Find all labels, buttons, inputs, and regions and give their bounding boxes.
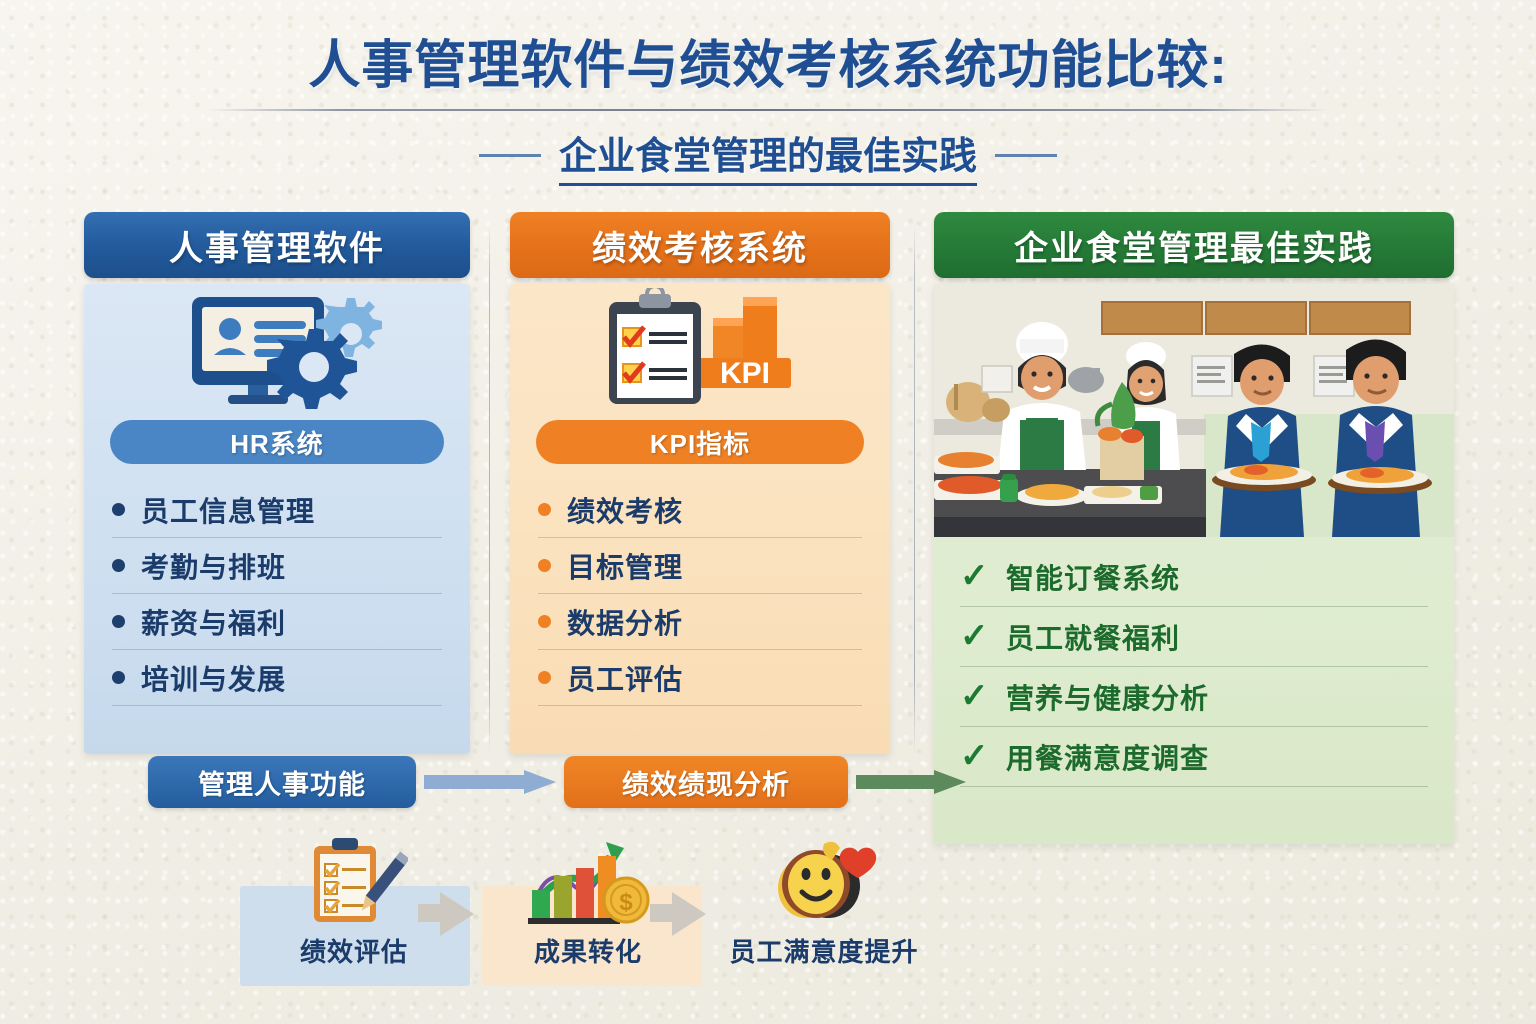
arrow-head <box>524 770 556 794</box>
list-item[interactable]: 考勤与排班 <box>112 538 442 594</box>
arrow-shaft <box>424 775 524 789</box>
step-arrow-1-icon <box>440 892 474 936</box>
list-item-label: 考勤与排班 <box>141 546 286 586</box>
flow-arrow-1-icon <box>424 770 556 794</box>
card-kpi-feature-list: 绩效考核 目标管理 数据分析 员工评估 <box>538 482 862 706</box>
list-item-label: 员工评估 <box>567 658 683 698</box>
card-divider-2 <box>914 224 915 754</box>
card-kpi-title: 绩效考核系统 <box>510 212 890 278</box>
card-divider-1 <box>489 224 490 754</box>
arrow-shaft <box>856 775 934 789</box>
card-hr-title: 人事管理软件 <box>84 212 470 278</box>
list-item-label: 数据分析 <box>567 602 683 642</box>
title-zone: 人事管理软件与绩效考核系统功能比较: 企业食堂管理的最佳实践 <box>0 36 1536 186</box>
subtitle-dash-left <box>479 154 541 157</box>
step-arrow-2-icon <box>672 892 706 936</box>
flow-step-hr[interactable]: 管理人事功能 <box>148 756 416 808</box>
card-hr-badge: HR系统 <box>110 420 444 464</box>
list-item[interactable]: 员工信息管理 <box>112 482 442 538</box>
card-kpi-body: KPI KPI指标 <box>510 284 890 754</box>
list-item-label: 绩效考核 <box>567 490 683 530</box>
bullet-dot-icon <box>112 671 125 684</box>
list-item[interactable]: 员工评估 <box>538 650 862 706</box>
monitor-user-gears-icon <box>84 284 470 414</box>
flow-arrow-2-icon <box>856 770 966 794</box>
list-item[interactable]: 薪资与福利 <box>112 594 442 650</box>
svg-text:$: $ <box>619 889 633 916</box>
bullet-dot-icon <box>538 671 551 684</box>
page-subtitle: 企业食堂管理的最佳实践 <box>559 125 977 186</box>
card-kpi-system[interactable]: 绩效考核系统 KPI <box>510 212 890 754</box>
list-item-label: 营养与健康分析 <box>1006 677 1209 717</box>
outcome-step-2-label: 成果转化 <box>488 932 688 969</box>
list-item-label: 智能订餐系统 <box>1006 557 1180 597</box>
bullet-dot-icon <box>112 615 125 628</box>
svg-text:KPI: KPI <box>720 357 770 390</box>
list-item[interactable]: 目标管理 <box>538 538 862 594</box>
page-title: 人事管理软件与绩效考核系统功能比较: <box>0 36 1536 97</box>
bullet-dot-icon <box>538 559 551 572</box>
card-hr-software[interactable]: 人事管理软件 <box>84 212 470 754</box>
outcome-steps-row: 绩效评估 $ 成果转化 <box>0 826 1536 1006</box>
list-item-label: 员工就餐福利 <box>1006 617 1180 657</box>
bullet-dot-icon <box>538 615 551 628</box>
list-item[interactable]: ✓ 智能订餐系统 <box>960 547 1428 607</box>
list-item[interactable]: 绩效考核 <box>538 482 862 538</box>
list-item-label: 培训与发展 <box>141 658 286 698</box>
process-flow-row: 管理人事功能 绩效绩现分析 <box>0 752 1536 818</box>
check-icon: ✓ <box>960 622 990 652</box>
check-icon: ✓ <box>960 682 990 712</box>
card-kpi-badge: KPI指标 <box>536 420 864 464</box>
list-item[interactable]: ✓ 营养与健康分析 <box>960 667 1428 727</box>
list-item[interactable]: ✓ 员工就餐福利 <box>960 607 1428 667</box>
bullet-dot-icon <box>538 503 551 516</box>
arrow-head <box>934 770 966 794</box>
list-item[interactable]: 数据分析 <box>538 594 862 650</box>
flow-step-kpi[interactable]: 绩效绩现分析 <box>564 756 848 808</box>
bullet-dot-icon <box>112 559 125 572</box>
card-canteen-feature-list: ✓ 智能订餐系统 ✓ 员工就餐福利 ✓ 营养与健康分析 ✓ 用餐满意度调查 <box>960 547 1428 787</box>
canteen-scene-illustration <box>934 284 1454 537</box>
outcome-step-3[interactable]: 员工满意度提升 <box>724 838 924 969</box>
outcome-step-1-label: 绩效评估 <box>254 932 454 969</box>
subtitle-row: 企业食堂管理的最佳实践 <box>0 125 1536 186</box>
smiley-heart-icon <box>724 838 924 926</box>
clipboard-kpi-chart-icon: KPI <box>510 284 890 414</box>
bullet-dot-icon <box>112 503 125 516</box>
subtitle-dash-right <box>995 154 1057 157</box>
list-item[interactable]: 培训与发展 <box>112 650 442 706</box>
comparison-cards: 人事管理软件 <box>0 206 1536 826</box>
card-hr-feature-list: 员工信息管理 考勤与排班 薪资与福利 培训与发展 <box>112 482 442 706</box>
list-item-label: 目标管理 <box>567 546 683 586</box>
list-item-label: 员工信息管理 <box>141 490 315 530</box>
list-item-label: 薪资与福利 <box>141 602 286 642</box>
check-icon: ✓ <box>960 562 990 592</box>
outcome-step-3-label: 员工满意度提升 <box>724 932 924 969</box>
card-canteen-practice[interactable]: 企业食堂管理最佳实践 <box>934 212 1454 844</box>
card-canteen-title: 企业食堂管理最佳实践 <box>934 212 1454 278</box>
card-hr-body: HR系统 员工信息管理 考勤与排班 薪资与福利 培训与发展 <box>84 284 470 754</box>
title-divider <box>207 109 1329 111</box>
